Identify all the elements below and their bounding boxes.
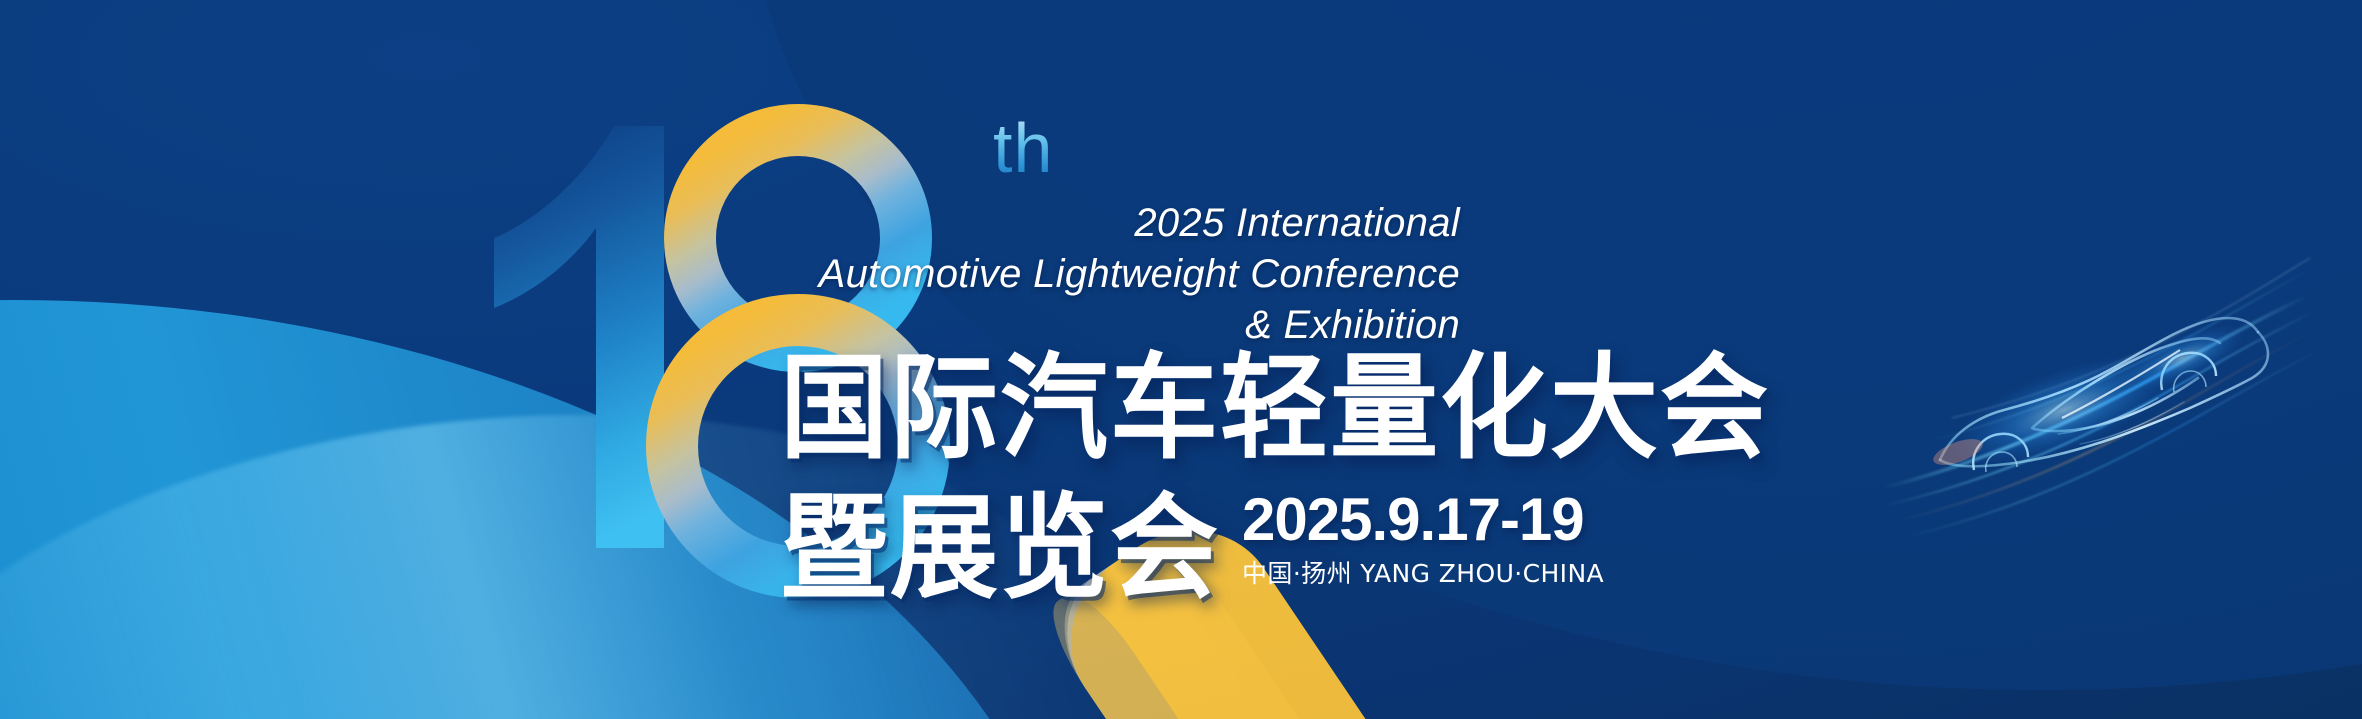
english-title-line-1: 2025 International (700, 198, 1460, 249)
ordinal-suffix-th: th (993, 113, 1053, 183)
lower-left-shadow-arc (0, 560, 680, 719)
conference-banner: th 2025 International Automotive Lightwe… (0, 0, 2362, 719)
chinese-title-row-2: 暨展览会 2025.9.17-19 中国·扬州 YANG ZHOU·CHINA (780, 478, 1604, 600)
chinese-title-line-1: 国际汽车轻量化大会 (780, 352, 1770, 466)
chinese-title: 国际汽车轻量化大会 (780, 352, 1770, 460)
sports-car-wireframe-icon (1912, 238, 2342, 538)
event-location: 中国·扬州 YANG ZHOU·CHINA (1242, 561, 1604, 586)
english-title-line-2: Automotive Lightweight Conference (700, 249, 1460, 300)
event-date: 2025.9.17-19 (1242, 490, 1604, 550)
english-title: 2025 International Automotive Lightweigh… (700, 198, 1460, 352)
lower-left-blue-arc-back (0, 430, 910, 719)
event-date-location: 2025.9.17-19 中国·扬州 YANG ZHOU·CHINA (1242, 490, 1604, 600)
chinese-title-line-2: 暨展览会 (780, 492, 1220, 606)
